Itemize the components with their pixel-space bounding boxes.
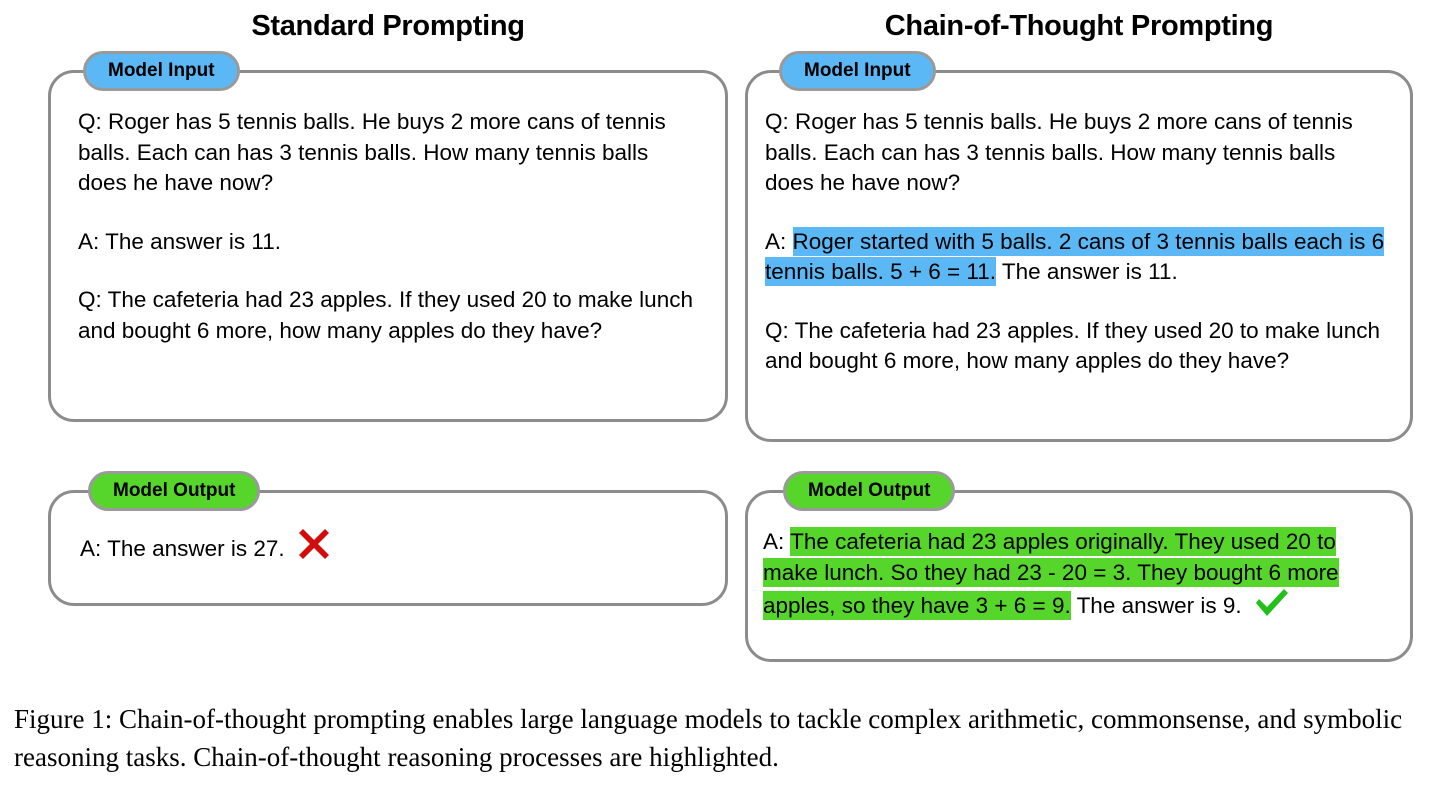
standard-model-input-text: Q: Roger has 5 tennis balls. He buys 2 m… <box>78 107 698 346</box>
standard-input-answer-1: A: The answer is 11. <box>78 227 698 258</box>
standard-input-question-1: Q: Roger has 5 tennis balls. He buys 2 m… <box>78 107 698 199</box>
cot-output-answer-prefix: A: <box>763 529 790 554</box>
check-mark-icon <box>1254 588 1290 618</box>
standard-model-input-badge: Model Input <box>83 51 240 91</box>
cot-output-answer: A: The cafeteria had 23 apples originall… <box>763 527 1388 622</box>
standard-output-answer-text: A: The answer is 27. <box>80 536 285 561</box>
cot-model-input-text: Q: Roger has 5 tennis balls. He buys 2 m… <box>765 107 1385 377</box>
column-title-standard-prompting: Standard Prompting <box>48 10 728 43</box>
figure-caption: Figure 1: Chain-of-thought prompting ena… <box>14 700 1442 776</box>
cot-model-input-badge: Model Input <box>779 51 936 91</box>
cot-model-output-badge: Model Output <box>783 471 955 511</box>
cot-output-reasoning-highlight: The cafeteria had 23 apples originally. … <box>763 527 1339 620</box>
cot-input-answer-suffix: The answer is 11. <box>996 259 1178 284</box>
cot-input-answer-1: A: Roger started with 5 balls. 2 cans of… <box>765 227 1385 288</box>
column-title-chain-of-thought-prompting: Chain-of-Thought Prompting <box>745 10 1413 43</box>
cross-mark-icon <box>297 527 331 561</box>
cot-input-question-2: Q: The cafeteria had 23 apples. If they … <box>765 316 1385 377</box>
cot-input-question-1: Q: Roger has 5 tennis balls. He buys 2 m… <box>765 107 1385 199</box>
cot-model-output-text: A: The cafeteria had 23 apples originall… <box>763 527 1388 622</box>
standard-input-question-2: Q: The cafeteria had 23 apples. If they … <box>78 285 698 346</box>
standard-output-answer: A: The answer is 27. <box>80 527 700 565</box>
cot-input-answer-prefix: A: <box>765 229 793 254</box>
standard-model-output-badge: Model Output <box>88 471 260 511</box>
cot-output-answer-suffix: The answer is 9. <box>1071 593 1242 618</box>
figure-container: Standard Prompting Chain-of-Thought Prom… <box>0 0 1456 795</box>
standard-model-output-text: A: The answer is 27. <box>80 527 700 565</box>
